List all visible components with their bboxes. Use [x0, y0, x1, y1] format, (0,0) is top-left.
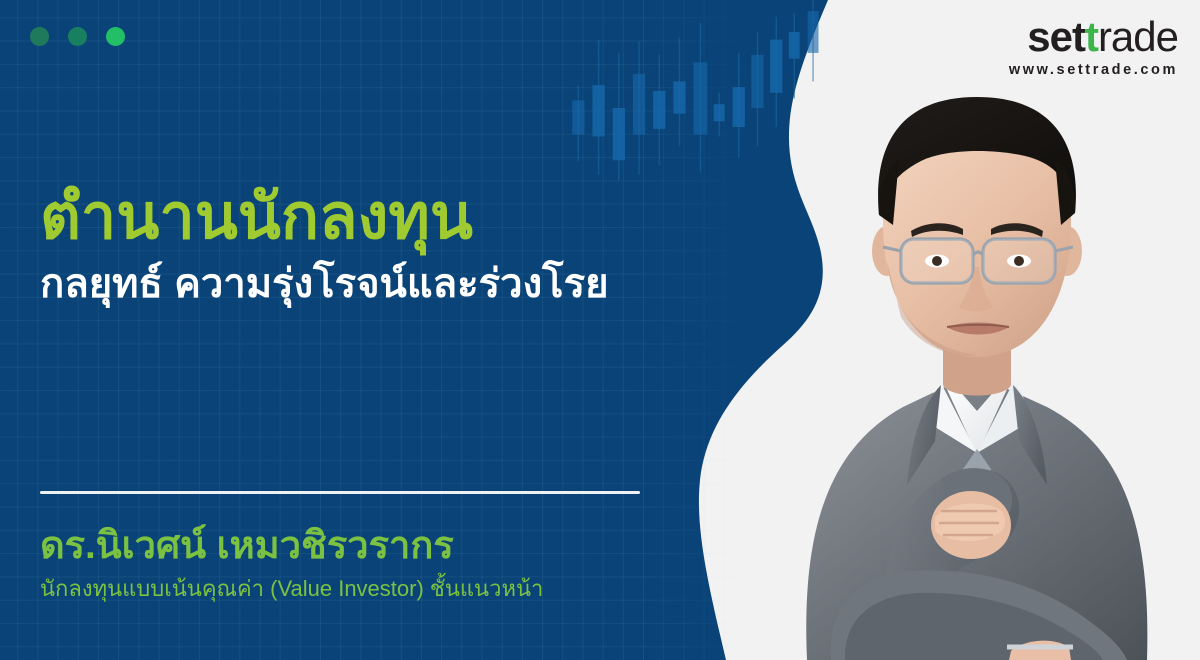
- dot-3: [106, 27, 125, 46]
- logo-wordmark: settrade: [1009, 16, 1178, 58]
- logo-part-t: t: [1085, 13, 1098, 60]
- page-title: ตำนานนักลงทุน: [40, 186, 760, 249]
- speaker-block: ดร.นิเวศน์ เหมวชิรวรากร นักลงทุนแบบเน้นค…: [40, 525, 740, 602]
- logo-url: www.settrade.com: [1009, 62, 1178, 78]
- logo-part-rade: rade: [1098, 13, 1178, 60]
- logo-part-set: set: [1027, 13, 1085, 60]
- speaker-role: นักลงทุนแบบเน้นคุณค่า (Value Investor) ช…: [40, 576, 740, 602]
- promo-banner: ตำนานนักลงทุน กลยุทธ์ ความรุ่งโรจน์และร่…: [0, 0, 1200, 660]
- page-subtitle: กลยุทธ์ ความรุ่งโรจน์และร่วงโรย: [40, 263, 760, 305]
- dot-1: [30, 27, 49, 46]
- divider-line: [40, 491, 640, 494]
- dot-2: [68, 27, 87, 46]
- speaker-name: ดร.นิเวศน์ เหมวชิรวรากร: [40, 525, 740, 569]
- dot-group: [30, 27, 125, 46]
- headline-block: ตำนานนักลงทุน กลยุทธ์ ความรุ่งโรจน์และร่…: [40, 186, 760, 305]
- settrade-logo[interactable]: settrade www.settrade.com: [1009, 16, 1178, 78]
